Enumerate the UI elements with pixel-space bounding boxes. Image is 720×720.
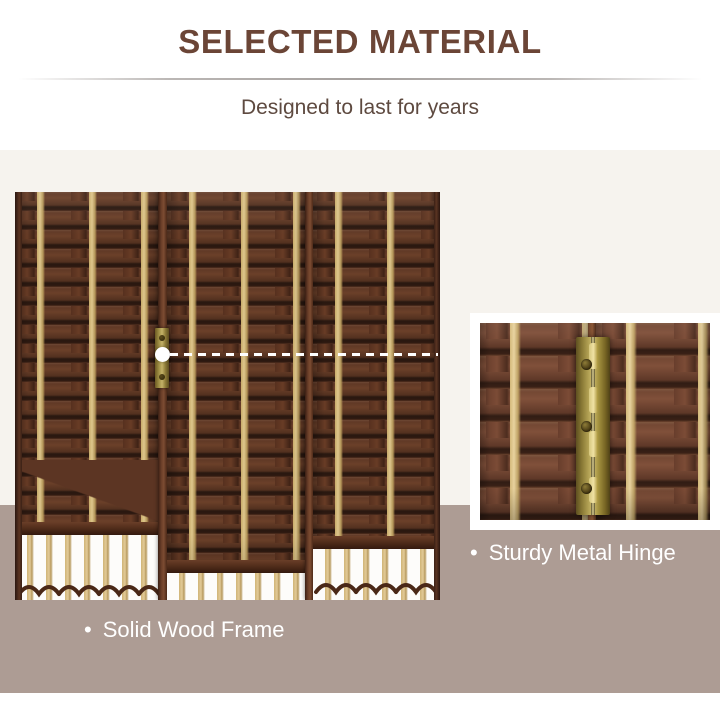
- header-divider: [18, 78, 702, 80]
- hinge-leaf-left: [480, 323, 588, 520]
- bullet-icon: •: [470, 538, 478, 568]
- rattan-weave-texture: [167, 192, 307, 600]
- callout-marker-dot: [155, 347, 170, 362]
- screen-fold-middle: [167, 192, 307, 600]
- feature-label-frame: Solid Wood Frame: [103, 617, 285, 642]
- metal-hinge-icon: [576, 337, 610, 515]
- scrollwork-ornament: [15, 576, 160, 598]
- background-bottom-strip: [0, 693, 720, 720]
- hinge-leaf-right: [596, 323, 710, 520]
- scrollwork-ornament: [313, 574, 440, 596]
- page-title: SELECTED MATERIAL: [0, 22, 720, 62]
- callout-dotted-line: [170, 353, 438, 356]
- frame-edge-left: [15, 192, 22, 600]
- hinge-detail-image: [470, 313, 720, 530]
- hinge-detail-inner: [480, 323, 710, 520]
- fold-left-angled-edge: [15, 460, 160, 540]
- screen-fold-left: [15, 192, 160, 600]
- product-main-image: [15, 192, 440, 600]
- spindle-section-right: [313, 536, 440, 600]
- spindle-section-middle: [167, 560, 307, 600]
- feature-label-hinge: Sturdy Metal Hinge: [489, 540, 676, 565]
- bullet-icon: •: [84, 615, 92, 645]
- feature-caption-frame: •Solid Wood Frame: [84, 615, 284, 645]
- rattan-weave-texture: [596, 323, 710, 520]
- page-subtitle: Designed to last for years: [0, 93, 720, 123]
- feature-caption-hinge: •Sturdy Metal Hinge: [470, 538, 676, 568]
- infographic-canvas: SELECTED MATERIAL Designed to last for y…: [0, 0, 720, 720]
- frame-edge-right: [434, 192, 440, 600]
- rattan-weave-texture: [480, 323, 588, 520]
- header: SELECTED MATERIAL Designed to last for y…: [0, 0, 720, 150]
- screen-fold-right: [313, 192, 440, 600]
